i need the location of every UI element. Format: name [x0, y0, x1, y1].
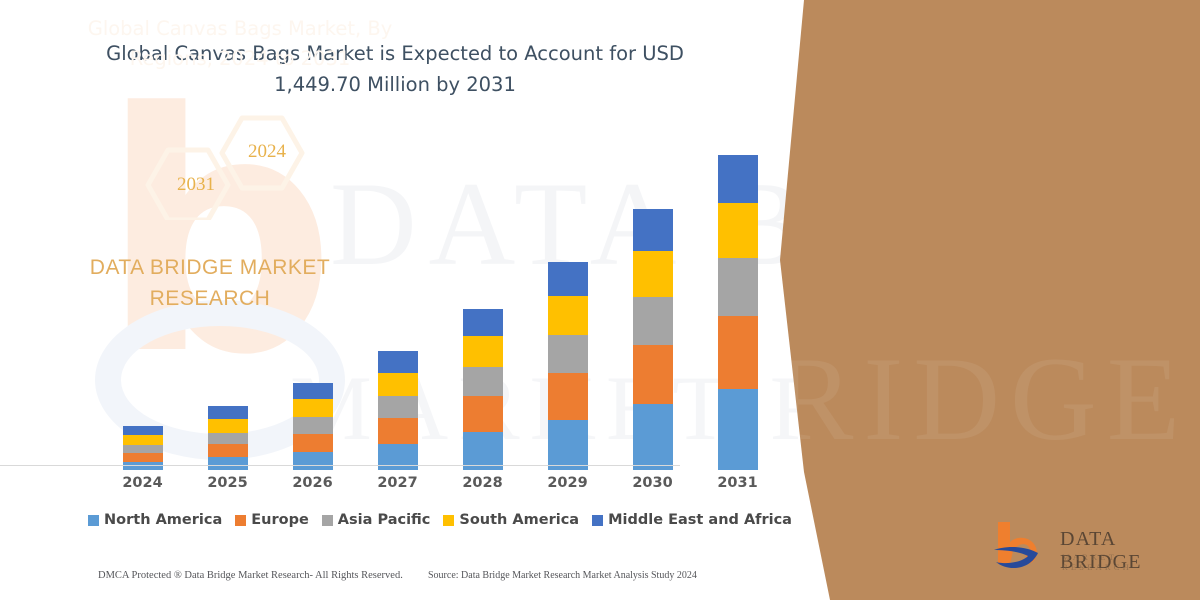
legend-item[interactable]: Asia Pacific: [322, 512, 431, 528]
chart-bar-segment: [378, 351, 418, 372]
chart-bar: [463, 309, 503, 470]
hexagon-label-2031: 2031: [177, 174, 215, 196]
chart-bar-segment: [123, 426, 163, 435]
chart-x-label: 2027: [364, 475, 432, 491]
chart-bar-segment: [378, 444, 418, 470]
chart-bar-segment: [633, 209, 673, 250]
chart-bar-segment: [293, 399, 333, 417]
legend-label: South America: [459, 512, 579, 528]
chart-bar-segment: [208, 444, 248, 457]
chart-x-label: 2029: [534, 475, 602, 491]
data-bridge-logo-icon: [990, 520, 1056, 576]
legend-item[interactable]: South America: [443, 512, 579, 528]
chart-bar-segment: [208, 419, 248, 433]
chart-bar-segment: [718, 316, 758, 389]
footer-source: Source: Data Bridge Market Research Mark…: [428, 570, 697, 581]
chart-bar-segment: [208, 406, 248, 419]
legend-label: Asia Pacific: [338, 512, 431, 528]
chart-bar-segment: [463, 336, 503, 367]
chart-bar-segment: [378, 418, 418, 445]
chart-bar: [633, 209, 673, 470]
chart-bar-segment: [463, 367, 503, 396]
legend-swatch-icon: [88, 515, 99, 526]
chart-bar-segment: [378, 373, 418, 396]
chart-bar-segment: [548, 373, 588, 420]
hexagon-outline-icon: [130, 110, 330, 220]
chart-bar-segment: [378, 396, 418, 418]
chart-bar-segment: [633, 251, 673, 297]
chart-x-label: 2031: [704, 475, 772, 491]
legend-swatch-icon: [235, 515, 246, 526]
legend-swatch-icon: [322, 515, 333, 526]
chart-x-label: 2026: [279, 475, 347, 491]
chart-bar-segment: [548, 420, 588, 470]
chart-bar-segment: [123, 435, 163, 445]
panel-brand-line2: RESEARCH: [30, 283, 390, 314]
infographic-page: b DATA BRIDGE MARKET RESEARCH Global Can…: [0, 0, 1200, 600]
chart-bar: [378, 351, 418, 470]
chart-bar-segment: [718, 155, 758, 203]
chart-x-label: 2024: [109, 475, 177, 491]
legend-item[interactable]: Middle East and Africa: [592, 512, 792, 528]
legend-item[interactable]: North America: [88, 512, 222, 528]
legend-swatch-icon: [443, 515, 454, 526]
chart-bar-segment: [208, 433, 248, 444]
panel-brand-line1: DATA BRIDGE MARKET: [30, 252, 390, 283]
chart-bar: [123, 426, 163, 470]
chart-x-axis-line: [0, 465, 680, 466]
logo-tagline: MARKET RESEARCH: [1062, 552, 1190, 572]
chart-bar-segment: [718, 258, 758, 316]
footer-copyright: DMCA Protected ® Data Bridge Market Rese…: [98, 570, 403, 581]
legend-label: Europe: [251, 512, 309, 528]
chart-bar-segment: [548, 296, 588, 334]
chart-legend: North AmericaEuropeAsia PacificSouth Ame…: [100, 512, 780, 528]
chart-bar-segment: [123, 453, 163, 462]
legend-label: North America: [104, 512, 222, 528]
chart-x-label: 2028: [449, 475, 517, 491]
chart-bar-segment: [123, 445, 163, 453]
legend-label: Middle East and Africa: [608, 512, 792, 528]
company-logo: DATA BRIDGE MARKET RESEARCH: [990, 520, 1190, 582]
chart-bar-segment: [208, 457, 248, 470]
chart-bar-segment: [293, 452, 333, 470]
panel-title: Global Canvas Bags Market, By Regions, 2…: [80, 14, 400, 74]
chart-bar-segment: [293, 434, 333, 453]
chart-bar-segment: [718, 203, 758, 258]
chart-x-label: 2030: [619, 475, 687, 491]
chart-bar-segment: [548, 262, 588, 296]
chart-bar-segment: [293, 383, 333, 400]
chart-bar-segment: [633, 345, 673, 405]
chart-bar-segment: [633, 297, 673, 345]
chart-bar: [208, 406, 248, 470]
chart-bar-segment: [548, 335, 588, 373]
panel-brand-name: DATA BRIDGE MARKET RESEARCH: [30, 252, 390, 314]
chart-x-axis-labels: 20242025202620272028202920302031: [100, 475, 780, 491]
hexagon-label-2024: 2024: [248, 141, 286, 163]
chart-bar-segment: [293, 417, 333, 434]
legend-swatch-icon: [592, 515, 603, 526]
chart-bar-segment: [463, 396, 503, 432]
chart-bar-segment: [718, 389, 758, 470]
chart-bar: [718, 155, 758, 470]
right-brand-panel: DATA BRIDGE: [780, 0, 1200, 600]
legend-item[interactable]: Europe: [235, 512, 309, 528]
chart-x-label: 2025: [194, 475, 262, 491]
chart-bar-segment: [123, 462, 163, 470]
hexagon-badges: 2024 2031: [130, 110, 330, 220]
chart-bar: [293, 383, 333, 471]
chart-bar-segment: [633, 404, 673, 470]
chart-bar-segment: [463, 309, 503, 336]
chart-bar: [548, 262, 588, 470]
